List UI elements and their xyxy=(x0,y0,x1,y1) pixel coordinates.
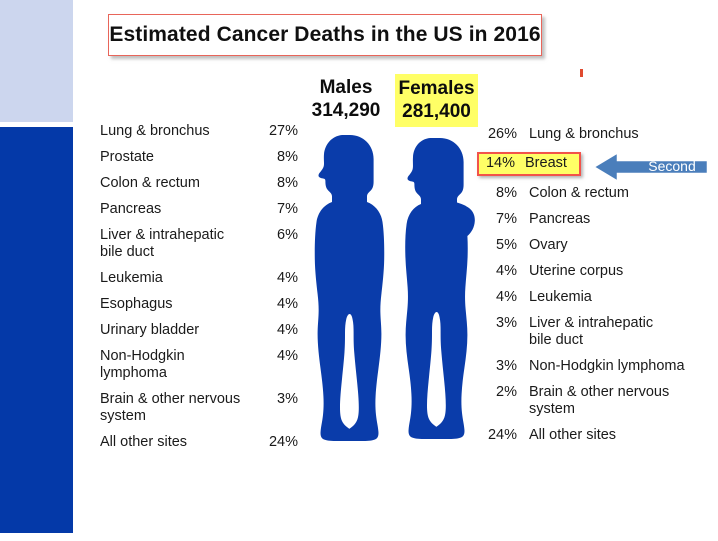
site-label: Leukemia xyxy=(100,270,163,287)
site-label: Lung & bronchus xyxy=(100,123,210,140)
site-percent: 2% xyxy=(483,384,517,418)
site-label: Liver & intrahepatic bile duct xyxy=(100,227,224,261)
site-percent: 24% xyxy=(483,427,517,444)
female-list-item: 5%Ovary xyxy=(483,237,709,254)
male-list-item: Brain & other nervous system3% xyxy=(100,391,298,425)
site-percent: 24% xyxy=(260,434,298,451)
site-percent: 26% xyxy=(483,126,517,143)
site-percent: 14% xyxy=(483,155,515,172)
females-header: Females 281,400 xyxy=(395,74,478,127)
site-percent: 5% xyxy=(483,237,517,254)
site-percent: 7% xyxy=(260,201,298,218)
female-list-item: 26%Lung & bronchus xyxy=(483,126,709,143)
site-percent: 6% xyxy=(260,227,298,261)
site-label: All other sites xyxy=(100,434,187,451)
site-label: Ovary xyxy=(529,237,568,254)
title-box: Estimated Cancer Deaths in the US in 201… xyxy=(108,14,542,56)
site-percent: 4% xyxy=(260,322,298,339)
female-list-item: 8%Colon & rectum xyxy=(483,185,709,202)
female-list-item: 3%Liver & intrahepatic bile duct xyxy=(483,315,709,349)
site-label: Brain & other nervous system xyxy=(100,391,240,425)
site-percent: 4% xyxy=(260,270,298,287)
site-label: Prostate xyxy=(100,149,154,166)
female-list-item: 4%Leukemia xyxy=(483,289,709,306)
slide-canvas: Estimated Cancer Deaths in the US in 201… xyxy=(0,0,718,541)
female-list-item: 3%Non-Hodgkin lymphoma xyxy=(483,358,709,375)
site-percent: 3% xyxy=(483,315,517,349)
female-silhouette-icon xyxy=(405,138,475,439)
red-tick-mark xyxy=(580,69,583,77)
female-body-path xyxy=(405,138,475,439)
male-body-path xyxy=(315,135,384,441)
females-total: 281,400 xyxy=(397,100,476,123)
site-percent: 4% xyxy=(483,263,517,280)
site-label: Breast xyxy=(525,155,567,172)
site-label: Pancreas xyxy=(529,211,590,228)
site-label: Pancreas xyxy=(100,201,161,218)
site-percent: 4% xyxy=(483,289,517,306)
male-cancer-list: Lung & bronchus27%Prostate8%Colon & rect… xyxy=(100,123,298,460)
site-percent: 8% xyxy=(483,185,517,202)
site-label: Esophagus xyxy=(100,296,173,313)
males-label: Males xyxy=(304,76,388,99)
site-label: Leukemia xyxy=(529,289,592,306)
female-list-item-highlighted: 14%Breast xyxy=(477,152,581,176)
male-list-item: Esophagus4% xyxy=(100,296,298,313)
male-list-item: Leukemia4% xyxy=(100,270,298,287)
females-label: Females xyxy=(397,77,476,100)
site-label: Non-Hodgkin lymphoma xyxy=(529,358,685,375)
sidebar-dark-block xyxy=(0,127,73,533)
site-percent: 7% xyxy=(483,211,517,228)
male-list-item: Prostate8% xyxy=(100,149,298,166)
site-label: All other sites xyxy=(529,427,616,444)
males-header: Males 314,290 xyxy=(304,76,388,122)
site-label: Brain & other nervous system xyxy=(529,384,669,418)
site-percent: 8% xyxy=(260,149,298,166)
silhouette-figures xyxy=(306,126,476,451)
male-list-item: Urinary bladder4% xyxy=(100,322,298,339)
male-list-item: All other sites24% xyxy=(100,434,298,451)
site-percent: 27% xyxy=(260,123,298,140)
site-percent: 3% xyxy=(483,358,517,375)
sidebar-light-block xyxy=(0,0,73,122)
male-list-item: Non-Hodgkin lymphoma4% xyxy=(100,348,298,382)
female-list-item: 2%Brain & other nervous system xyxy=(483,384,709,418)
site-label: Liver & intrahepatic bile duct xyxy=(529,315,653,349)
male-list-item: Colon & rectum8% xyxy=(100,175,298,192)
male-silhouette-icon xyxy=(315,135,384,441)
male-list-item: Lung & bronchus27% xyxy=(100,123,298,140)
site-percent: 3% xyxy=(260,391,298,425)
page-title: Estimated Cancer Deaths in the US in 201… xyxy=(109,23,540,47)
site-label: Uterine corpus xyxy=(529,263,623,280)
site-label: Lung & bronchus xyxy=(529,126,639,143)
female-list-item: 7%Pancreas xyxy=(483,211,709,228)
site-percent: 4% xyxy=(260,296,298,313)
male-list-item: Liver & intrahepatic bile duct6% xyxy=(100,227,298,261)
male-list-item: Pancreas7% xyxy=(100,201,298,218)
males-total: 314,290 xyxy=(304,99,388,122)
site-label: Colon & rectum xyxy=(100,175,200,192)
site-label: Urinary bladder xyxy=(100,322,199,339)
site-percent: 8% xyxy=(260,175,298,192)
site-percent: 4% xyxy=(260,348,298,382)
female-list-item: 4%Uterine corpus xyxy=(483,263,709,280)
female-list-item: 24%All other sites xyxy=(483,427,709,444)
site-label: Colon & rectum xyxy=(529,185,629,202)
callout-label: Second xyxy=(640,157,704,175)
site-label: Non-Hodgkin lymphoma xyxy=(100,348,185,382)
